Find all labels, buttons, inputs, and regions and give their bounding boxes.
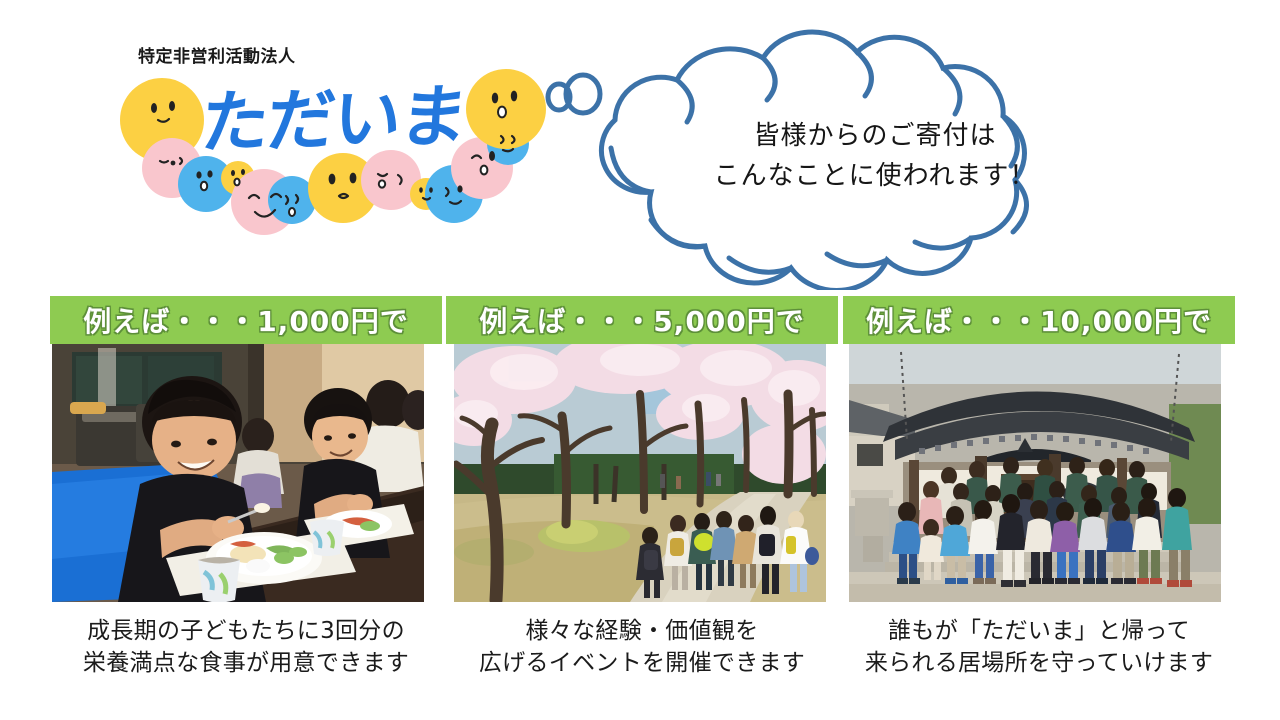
card-photo-meal — [52, 344, 424, 602]
bubble-line-2: こんなことに使われます！ — [545, 156, 1205, 196]
card-caption: 様々な経験・価値観を 広げるイベントを開催できます — [446, 616, 838, 679]
caption-line-2: 栄養満点な食事が用意できます — [50, 648, 442, 680]
examples-row: 例えば・・・1,000円で — [0, 296, 1280, 696]
example-card-1000: 例えば・・・1,000円で — [50, 296, 442, 679]
example-card-5000: 例えば・・・5,000円で — [446, 296, 838, 679]
caption-line-1: 成長期の子どもたちに3回分の — [50, 616, 442, 648]
card-photo-temple-group — [849, 344, 1221, 602]
example-card-10000: 例えば・・・10,000円で — [843, 296, 1235, 679]
logo-wordmark: ただいま — [197, 61, 471, 167]
card-photo-sakura — [454, 344, 826, 602]
thought-bubble: 皆様からのご寄付は こんなことに使われます！ — [545, 28, 1205, 290]
slide-canvas: 特定非営利活動法人 .cy{fill:#fcd043;} .cp{fill:#f… — [0, 0, 1280, 720]
caption-line-1: 誰もが「ただいま」と帰って — [843, 616, 1235, 648]
caption-line-2: 広げるイベントを開催できます — [446, 648, 838, 680]
organization-logo: 特定非営利活動法人 .cy{fill:#fcd043;} .cp{fill:#f… — [110, 36, 550, 246]
bubble-line-1: 皆様からのご寄付は — [545, 116, 1205, 156]
card-banner-label: 例えば・・・10,000円で — [866, 300, 1212, 340]
caption-line-1: 様々な経験・価値観を — [446, 616, 838, 648]
thought-bubble-text: 皆様からのご寄付は こんなことに使われます！ — [545, 116, 1205, 197]
caption-line-2: 来られる居場所を守っていけます — [843, 648, 1235, 680]
card-caption: 誰もが「ただいま」と帰って 来られる居場所を守っていけます — [843, 616, 1235, 679]
card-banner: 例えば・・・1,000円で — [50, 296, 442, 344]
card-banner: 例えば・・・5,000円で — [446, 296, 838, 344]
card-caption: 成長期の子どもたちに3回分の 栄養満点な食事が用意できます — [50, 616, 442, 679]
card-banner: 例えば・・・10,000円で — [843, 296, 1235, 344]
card-banner-label: 例えば・・・5,000円で — [479, 300, 805, 340]
card-banner-label: 例えば・・・1,000円で — [83, 300, 409, 340]
